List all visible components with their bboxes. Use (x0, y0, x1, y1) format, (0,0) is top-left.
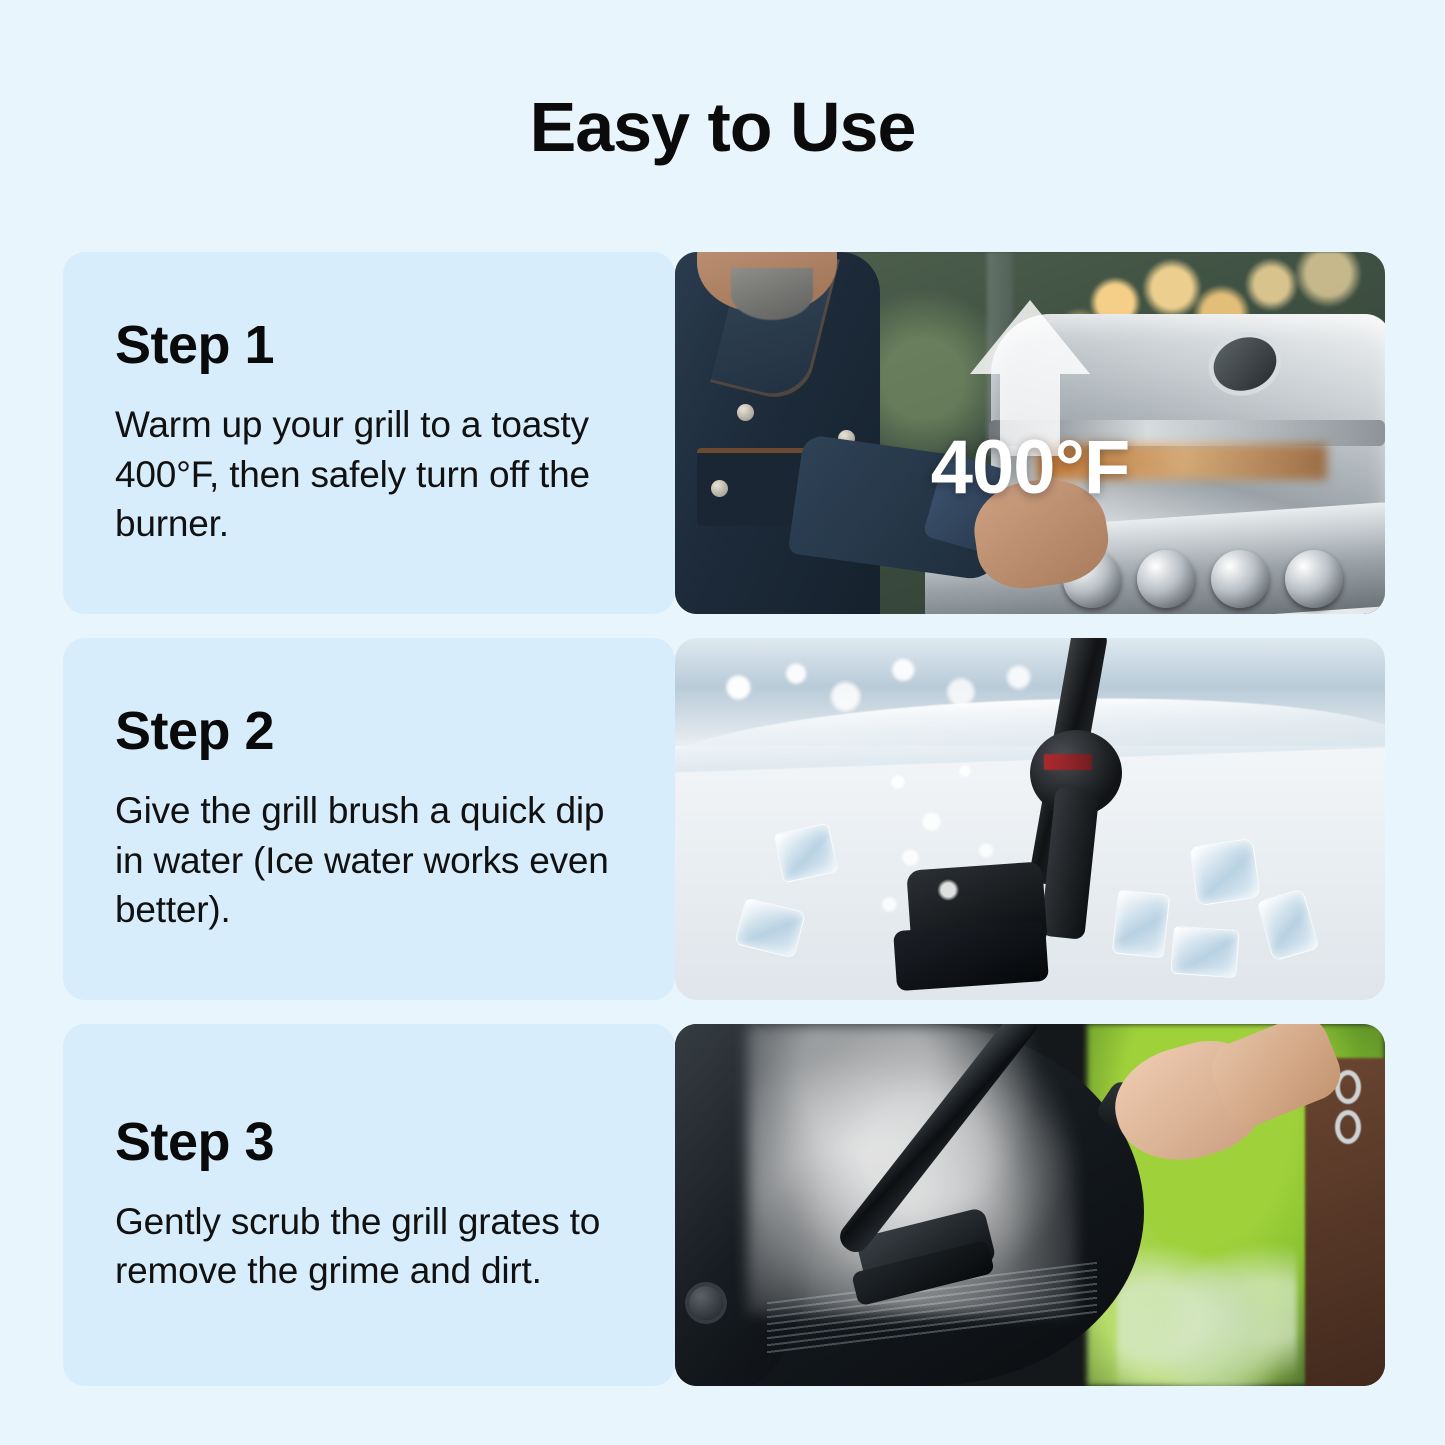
mans-beard (731, 268, 813, 320)
step-body-1: Warm up your grill to a toasty 400°F, th… (115, 400, 629, 549)
step-panel-1: Step 1 Warm up your grill to a toasty 40… (63, 252, 675, 614)
steps-list: Step 1 Warm up your grill to a toasty 40… (63, 252, 1385, 1386)
step-photo-3 (675, 1024, 1385, 1386)
grill-lid-knob (689, 1286, 723, 1320)
burner-knob (1211, 550, 1269, 608)
step-photo-2 (675, 638, 1385, 1000)
ice-cube (1257, 889, 1320, 962)
burner-knob (1285, 550, 1343, 608)
brush-scrub-pad (893, 921, 1049, 991)
step-photo-1: 400°F (675, 252, 1385, 614)
step-body-3: Gently scrub the grill grates to remove … (115, 1197, 629, 1296)
step-row-2: Step 2 Give the grill brush a quick dip … (63, 638, 1385, 1000)
step-heading-2: Step 2 (115, 703, 629, 760)
step-panel-2: Step 2 Give the grill brush a quick dip … (63, 638, 675, 1000)
ice-cube (773, 823, 838, 884)
page-title: Easy to Use (0, 92, 1445, 162)
ice-cube (1189, 838, 1261, 906)
step-body-2: Give the grill brush a quick dip in wate… (115, 786, 629, 935)
step-heading-1: Step 1 (115, 317, 629, 374)
background-bottles (1117, 1206, 1297, 1386)
temperature-overlay-label: 400°F (931, 424, 1130, 511)
step-row-1: Step 1 Warm up your grill to a toasty 40… (63, 252, 1385, 614)
apron-ring (1335, 1110, 1361, 1144)
ice-cube (734, 897, 806, 959)
step-heading-3: Step 3 (115, 1114, 629, 1171)
air-bubbles (860, 746, 1070, 926)
ice-cube (1112, 889, 1170, 958)
jacket-button (737, 404, 754, 421)
step-panel-3: Step 3 Gently scrub the grill grates to … (63, 1024, 675, 1386)
infographic-page: Easy to Use Step 1 Warm up your grill to… (0, 0, 1445, 1445)
water-splash (689, 646, 1101, 738)
ice-cube (1170, 926, 1239, 978)
step-row-3: Step 3 Gently scrub the grill grates to … (63, 1024, 1385, 1386)
burner-knob (1137, 550, 1195, 608)
jacket-button (711, 480, 728, 497)
leather-apron (1305, 1058, 1385, 1386)
